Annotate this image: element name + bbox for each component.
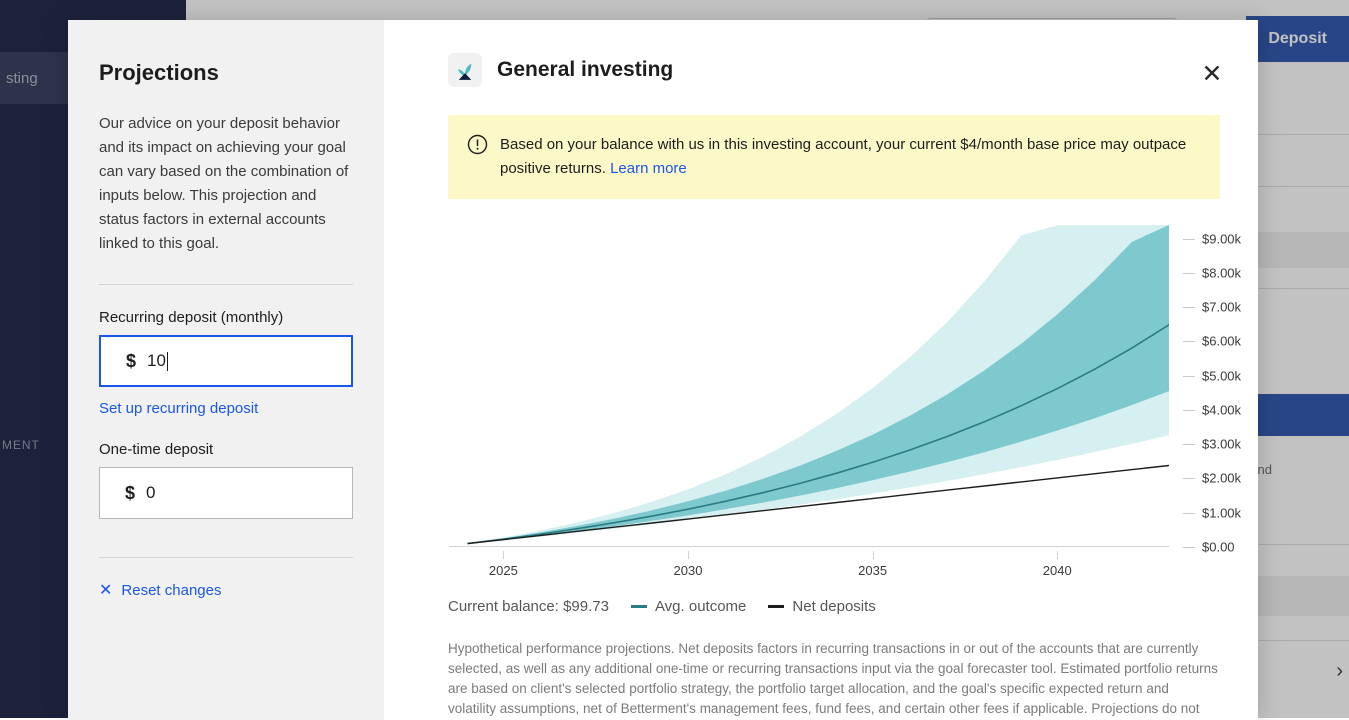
projections-modal: Projections Our advice on your deposit b… <box>68 20 1258 720</box>
one-time-deposit-value: 0 <box>146 483 155 503</box>
x-axis-tick-label: 2030 <box>674 563 703 578</box>
y-axis-tick-label: $9.00k <box>1202 231 1241 246</box>
panel-divider-top <box>99 284 353 285</box>
sprout-icon <box>448 53 482 87</box>
x-axis-tick-mark <box>1057 551 1058 559</box>
disclosure-footnote: Hypothetical performance projections. Ne… <box>448 639 1220 720</box>
price-warning-banner: Based on your balance with us in this in… <box>448 115 1220 199</box>
y-axis-tick-label: $2.00k <box>1202 471 1241 486</box>
recurring-deposit-value: 10 <box>147 351 168 371</box>
close-icon[interactable]: ✕ <box>1196 58 1228 90</box>
modal-title: General investing <box>497 58 673 82</box>
y-axis-tick-label: $0.00 <box>1202 540 1235 555</box>
recurring-deposit-input[interactable]: $ 10 <box>99 335 353 387</box>
y-axis-tick-mark <box>1183 444 1195 445</box>
reset-changes-button[interactable]: ✕ Reset changes <box>99 582 353 599</box>
alert-circle-icon <box>467 134 488 160</box>
learn-more-link[interactable]: Learn more <box>610 160 687 177</box>
y-axis-tick-mark <box>1183 410 1195 411</box>
one-time-deposit-input[interactable]: $ 0 <box>99 467 353 519</box>
reset-changes-label: Reset changes <box>121 582 221 599</box>
y-axis-tick-mark <box>1183 239 1195 240</box>
y-axis-tick-mark <box>1183 307 1195 308</box>
alert-message: Based on your balance with us in this in… <box>500 136 1186 177</box>
dollar-sign-icon: $ <box>114 483 146 504</box>
chart-legend: Current balance: $99.73 Avg. outcome Net… <box>448 598 1220 615</box>
x-axis-tick-mark <box>873 551 874 559</box>
y-axis-tick-label: $5.00k <box>1202 368 1241 383</box>
modal-header: General investing <box>448 53 1220 87</box>
x-axis-labels: 2025203020352040 <box>448 551 1172 581</box>
panel-divider-bottom <box>99 557 353 558</box>
y-axis-tick-label: $3.00k <box>1202 437 1241 452</box>
recurring-deposit-label: Recurring deposit (monthly) <box>99 309 353 326</box>
legend-swatch-avg <box>631 605 647 608</box>
y-axis-tick-label: $4.00k <box>1202 402 1241 417</box>
y-axis-tick-mark <box>1183 478 1195 479</box>
close-x-icon: ✕ <box>99 583 112 599</box>
legend-net-deposits: Net deposits <box>768 598 875 615</box>
y-axis-tick-mark <box>1183 273 1195 274</box>
y-axis-tick-label: $6.00k <box>1202 334 1241 349</box>
y-axis-tick-label: $1.00k <box>1202 505 1241 520</box>
text-caret <box>167 352 168 371</box>
current-balance-label: Current balance: $99.73 <box>448 598 609 615</box>
x-axis-tick-mark <box>688 551 689 559</box>
one-time-deposit-label: One-time deposit <box>99 441 353 458</box>
projections-panel: Projections Our advice on your deposit b… <box>68 20 384 720</box>
y-axis-tick-mark <box>1183 513 1195 514</box>
y-axis-tick-mark <box>1183 376 1195 377</box>
x-axis-tick-mark <box>503 551 504 559</box>
legend-swatch-net <box>768 605 784 608</box>
projections-content: General investing ✕ Based on your balanc… <box>384 20 1258 720</box>
panel-title: Projections <box>99 60 353 86</box>
panel-description: Our advice on your deposit behavior and … <box>99 112 353 256</box>
legend-avg-label: Avg. outcome <box>655 598 746 615</box>
y-axis-tick-mark <box>1183 547 1195 548</box>
x-axis-tick-label: 2040 <box>1043 563 1072 578</box>
y-axis-tick-mark <box>1183 341 1195 342</box>
legend-net-label: Net deposits <box>792 598 875 615</box>
projection-chart: $0.00$1.00k$2.00k$3.00k$4.00k$5.00k$6.00… <box>448 217 1220 572</box>
y-axis-tick-label: $7.00k <box>1202 300 1241 315</box>
y-axis-labels: $0.00$1.00k$2.00k$3.00k$4.00k$5.00k$6.00… <box>1176 217 1258 557</box>
x-axis-tick-label: 2035 <box>858 563 887 578</box>
dollar-sign-icon: $ <box>115 351 147 372</box>
legend-avg-outcome: Avg. outcome <box>631 598 746 615</box>
price-warning-text: Based on your balance with us in this in… <box>500 133 1190 181</box>
x-axis-tick-label: 2025 <box>489 563 518 578</box>
set-up-recurring-deposit-link[interactable]: Set up recurring deposit <box>99 400 353 417</box>
projection-chart-svg <box>449 225 1169 547</box>
y-axis-tick-label: $8.00k <box>1202 265 1241 280</box>
